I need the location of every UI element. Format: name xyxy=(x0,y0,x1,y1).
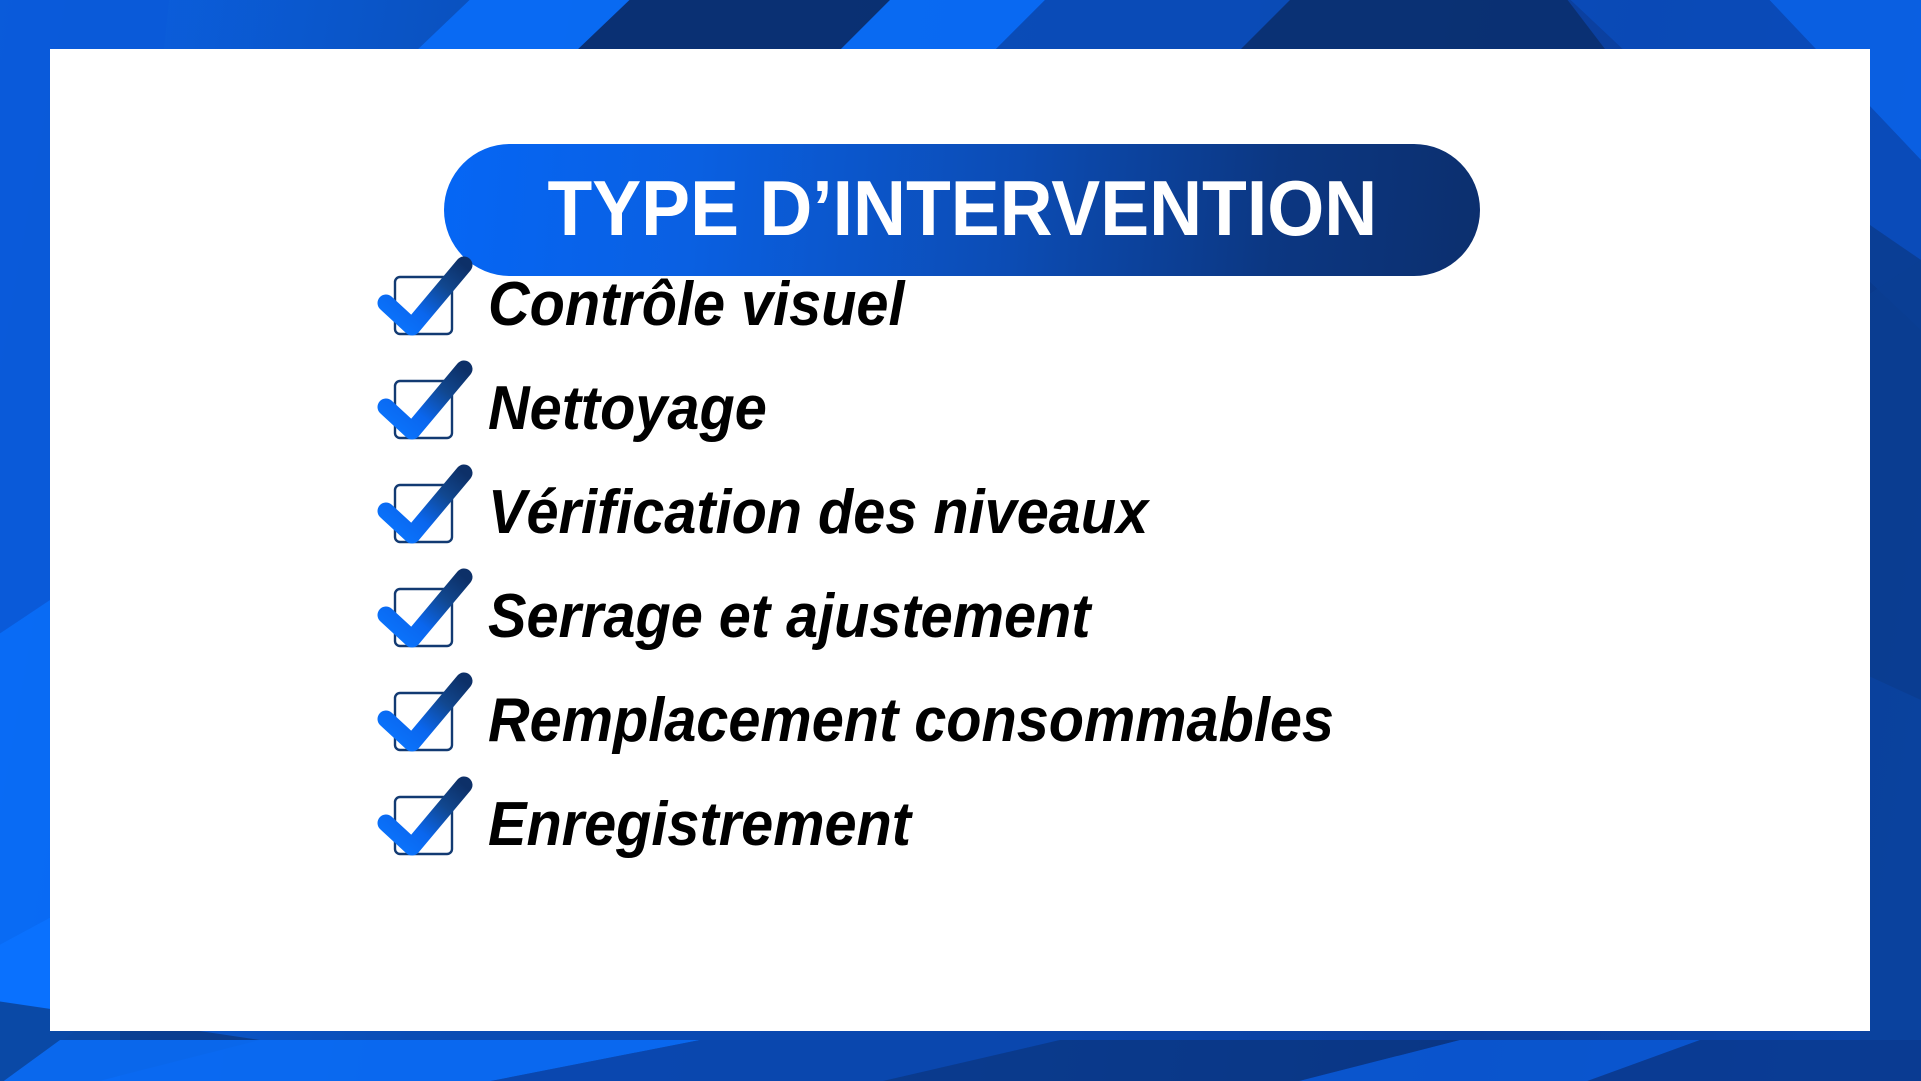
list-item[interactable]: Vérification des niveaux xyxy=(378,469,1798,557)
checkbox-checked-icon[interactable] xyxy=(378,677,470,765)
list-item-label: Serrage et ajustement xyxy=(488,586,1090,648)
page-title: TYPE D’INTERVENTION xyxy=(547,169,1377,251)
list-item-label: Remplacement consommables xyxy=(488,690,1334,752)
slide-canvas: TYPE D’INTERVENTION xyxy=(0,0,1921,1081)
list-item[interactable]: Contrôle visuel xyxy=(378,261,1798,349)
content-card: TYPE D’INTERVENTION xyxy=(50,49,1870,1031)
list-item-label: Enregistrement xyxy=(488,794,911,856)
checkbox-checked-icon[interactable] xyxy=(378,365,470,453)
list-item[interactable]: Enregistrement xyxy=(378,781,1798,869)
list-item-label: Nettoyage xyxy=(488,378,767,440)
checkbox-checked-icon[interactable] xyxy=(378,261,470,349)
intervention-type-list: Contrôle visuel xyxy=(378,261,1798,869)
checkbox-checked-icon[interactable] xyxy=(378,573,470,661)
title-pill: TYPE D’INTERVENTION xyxy=(444,144,1480,276)
list-item-label: Contrôle visuel xyxy=(488,274,905,336)
checkbox-checked-icon[interactable] xyxy=(378,781,470,869)
list-item[interactable]: Serrage et ajustement xyxy=(378,573,1798,661)
checkbox-checked-icon[interactable] xyxy=(378,469,470,557)
list-item-label: Vérification des niveaux xyxy=(488,482,1148,544)
list-item[interactable]: Nettoyage xyxy=(378,365,1798,453)
list-item[interactable]: Remplacement consommables xyxy=(378,677,1798,765)
